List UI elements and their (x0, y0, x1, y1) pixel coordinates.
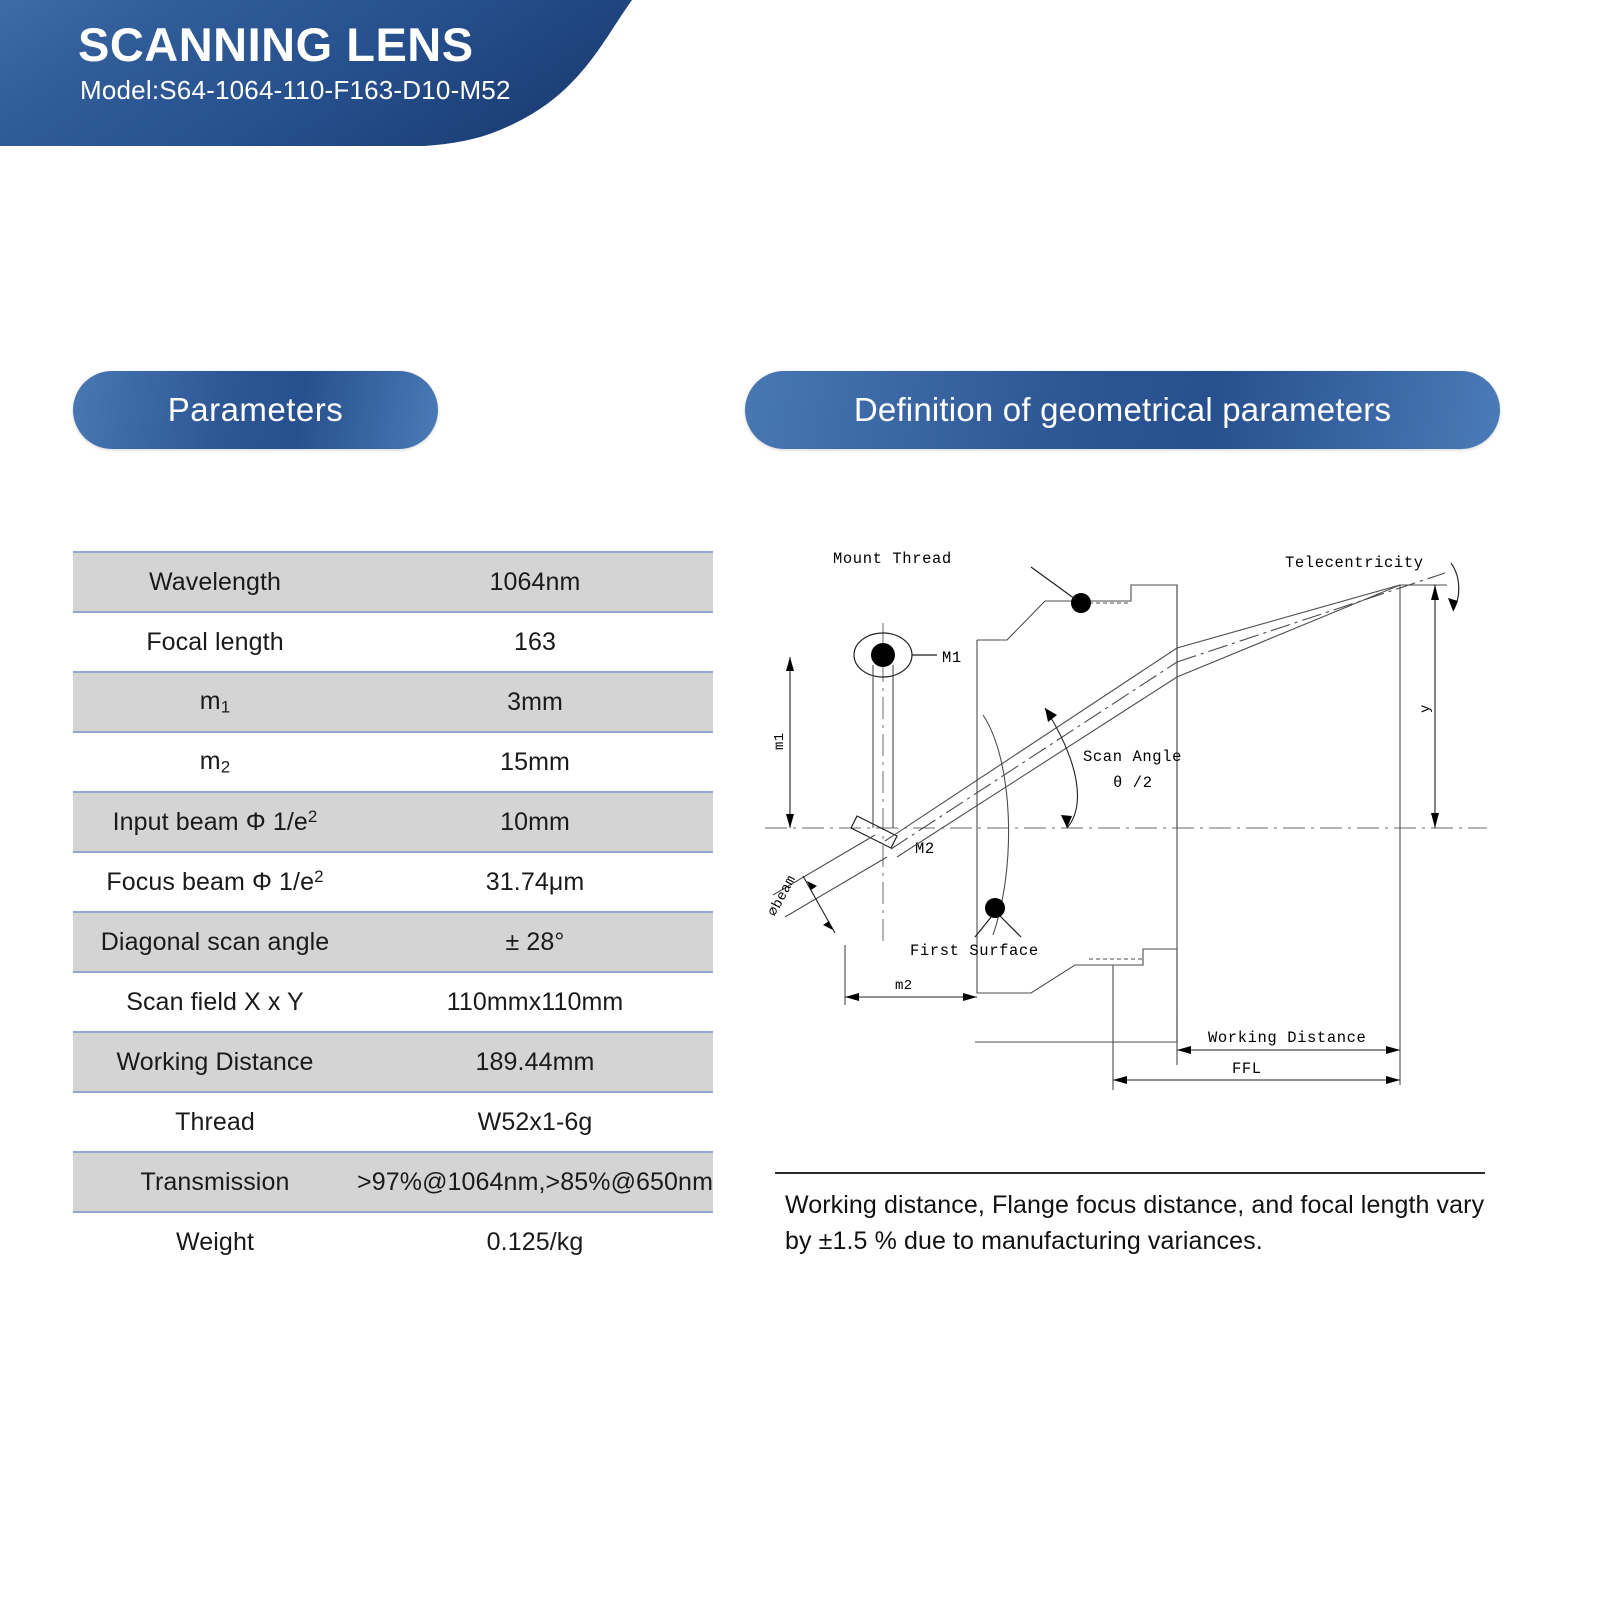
m2-mirror (851, 816, 897, 848)
table-row: Weight0.125/kg (73, 1212, 713, 1272)
banner-text-block: SCANNING LENS Model:S64-1064-110-F163-D1… (78, 20, 511, 106)
scan-angle-arc (1045, 708, 1077, 828)
param-value-cell: 10mm (357, 792, 713, 852)
focus-ray-upper (1177, 585, 1400, 648)
table-row: Working Distance189.44mm (73, 1032, 713, 1092)
table-row: Diagonal scan angle± 28° (73, 912, 713, 972)
scan-angle-symbol: θ /2 (1113, 774, 1153, 792)
table-row: Transmission>97%@1064nm,>85%@650nm (73, 1152, 713, 1212)
ffl-arrow-right (1386, 1076, 1400, 1084)
scan-angle-arrow-top (1045, 708, 1057, 722)
param-value-cell: 163 (357, 612, 713, 672)
beam-dia-arrow-bottom (823, 921, 833, 930)
param-value-cell: 3mm (357, 672, 713, 732)
table-row: ThreadW52x1-6g (73, 1092, 713, 1152)
footer-divider (775, 1172, 1485, 1174)
param-value-cell: 15mm (357, 732, 713, 792)
param-name-cell: Thread (73, 1092, 357, 1152)
parameters-table-body: Wavelength1064nmFocal length163m13mmm215… (73, 552, 713, 1272)
ffl-label: FFL (1232, 1060, 1262, 1078)
m1-mirror-dot (871, 643, 895, 667)
m1-dim-label: m1 (772, 732, 788, 750)
m1-label: M1 (942, 649, 962, 667)
param-value-cell: W52x1-6g (357, 1092, 713, 1152)
first-surface-label: First Surface (910, 942, 1039, 960)
y-dim-arrow-top (1431, 585, 1439, 600)
table-row: m215mm (73, 732, 713, 792)
param-value-cell: 1064nm (357, 552, 713, 612)
param-name-cell: Diagonal scan angle (73, 912, 357, 972)
first-surface-dot (985, 898, 1005, 918)
ffl-arrow-left (1113, 1076, 1127, 1084)
focus-ray-center (1177, 573, 1445, 662)
param-name-cell: Working Distance (73, 1032, 357, 1092)
page-title: SCANNING LENS (78, 20, 511, 69)
param-name-cell: Weight (73, 1212, 357, 1272)
y-dim-label: y (1418, 704, 1434, 713)
param-value-cell: 31.74μm (357, 852, 713, 912)
table-row: Focus beam Φ 1/e231.74μm (73, 852, 713, 912)
param-value-cell: >97%@1064nm,>85%@650nm (357, 1152, 713, 1212)
geometry-diagram: M1 M2 ⌀beam m1 Mount Thread First Surfac… (745, 545, 1505, 1115)
geometry-diagram-svg: M1 M2 ⌀beam m1 Mount Thread First Surfac… (745, 545, 1505, 1115)
param-name-cell: Input beam Φ 1/e2 (73, 792, 357, 852)
wd-arrow-left (1177, 1046, 1191, 1054)
wd-arrow-right (1386, 1046, 1400, 1054)
table-row: Input beam Φ 1/e210mm (73, 792, 713, 852)
table-row: Wavelength1064nm (73, 552, 713, 612)
m1-dim-arrow-bottom (786, 814, 794, 828)
mount-thread-label: Mount Thread (833, 550, 952, 568)
param-name-cell: m1 (73, 672, 357, 732)
param-name-cell: Scan field X x Y (73, 972, 357, 1032)
parameters-table: Wavelength1064nmFocal length163m13mmm215… (73, 551, 713, 1272)
section-header-definition-label: Definition of geometrical parameters (854, 391, 1391, 429)
m1-dim-arrow-top (786, 657, 794, 671)
param-value-cell: 110mmx110mm (357, 972, 713, 1032)
telecentricity-label: Telecentricity (1285, 554, 1424, 572)
beam-diameter-label: ⌀beam (765, 873, 800, 919)
model-number: Model:S64-1064-110-F163-D10-M52 (80, 75, 511, 106)
section-header-definition: Definition of geometrical parameters (745, 371, 1500, 449)
m2-label: M2 (915, 840, 935, 858)
y-dim-arrow-bottom (1431, 813, 1439, 828)
m2-dim-arrow-left (845, 993, 859, 1001)
param-value-cell: ± 28° (357, 912, 713, 972)
table-row: Scan field X x Y110mmx110mm (73, 972, 713, 1032)
param-name-cell: Transmission (73, 1152, 357, 1212)
footer-note: Working distance, Flange focus distance,… (785, 1188, 1505, 1259)
param-name-cell: Focus beam Φ 1/e2 (73, 852, 357, 912)
table-row: Focal length163 (73, 612, 713, 672)
mount-thread-leader (1031, 567, 1075, 599)
input-beam-edge-lower (785, 857, 887, 917)
param-value-cell: 0.125/kg (357, 1212, 713, 1272)
m2-dim-label: m2 (895, 978, 913, 994)
scan-angle-arrow-bottom (1061, 815, 1072, 828)
param-name-cell: Focal length (73, 612, 357, 672)
mount-thread-dot (1071, 593, 1091, 613)
param-value-cell: 189.44mm (357, 1032, 713, 1092)
param-name-cell: Wavelength (73, 552, 357, 612)
first-surface-leader-right (1000, 916, 1021, 937)
section-header-parameters: Parameters (73, 371, 438, 449)
m2-dim-arrow-right (963, 993, 977, 1001)
section-header-parameters-label: Parameters (168, 391, 344, 429)
scan-angle-label: Scan Angle (1083, 748, 1182, 766)
param-name-cell: m2 (73, 732, 357, 792)
working-distance-label: Working Distance (1208, 1029, 1366, 1047)
header-banner: SCANNING LENS Model:S64-1064-110-F163-D1… (0, 0, 660, 150)
scan-beam-lower (897, 677, 1177, 857)
scan-beam-upper (885, 648, 1177, 841)
lens-body-lower-outline (975, 640, 1177, 1042)
table-row: m13mm (73, 672, 713, 732)
